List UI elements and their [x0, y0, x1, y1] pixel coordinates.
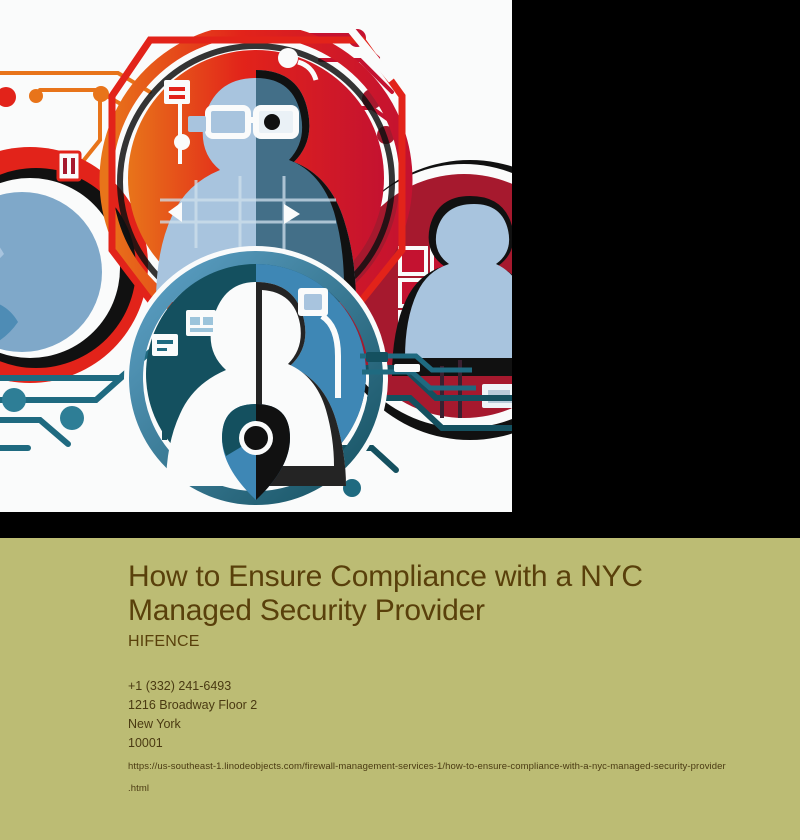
hero-illustration	[0, 0, 512, 512]
contact-city: New York	[128, 715, 788, 734]
page-title: How to Ensure Compliance with a NYC Mana…	[128, 560, 748, 627]
article-info-panel: How to Ensure Compliance with a NYC Mana…	[0, 538, 800, 840]
page-root: How to Ensure Compliance with a NYC Mana…	[0, 0, 800, 840]
source-url-line-1: https://us-southeast-1.linodeobjects.com…	[128, 756, 800, 778]
contact-phone: +1 (332) 241-6493	[128, 677, 788, 696]
brand-name: HIFENCE	[128, 633, 200, 651]
source-url-line-2: .html	[128, 778, 800, 800]
contact-zip: 10001	[128, 734, 788, 753]
hero-band	[0, 0, 800, 538]
source-url-block: https://us-southeast-1.linodeobjects.com…	[128, 756, 800, 800]
contact-block: +1 (332) 241-6493 1216 Broadway Floor 2 …	[128, 677, 788, 753]
contact-address-line1: 1216 Broadway Floor 2	[128, 696, 788, 715]
